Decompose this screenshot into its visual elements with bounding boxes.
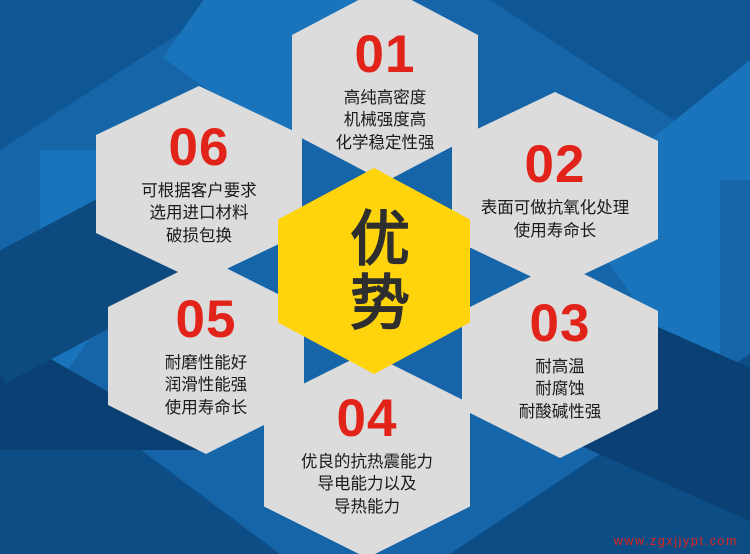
- hexagon-text: 表面可做抗氧化处理 使用寿命长: [481, 197, 630, 242]
- hexagon-item-01: 01 高纯高密度 机械强度高 化学稳定性强: [292, 0, 478, 182]
- hexagon-number: 06: [169, 121, 230, 174]
- hexagon-number: 04: [337, 392, 398, 445]
- hexagon-number: 02: [525, 138, 586, 191]
- hexagon-text: 耐磨性能好 润滑性能强 使用寿命长: [165, 352, 248, 419]
- watermark-text: www.zgxjjypt.com: [614, 534, 738, 548]
- center-label: 优势: [340, 207, 409, 335]
- hexagon-number: 03: [530, 297, 591, 350]
- hexagon-text: 耐高温 耐腐蚀 耐酸碱性强: [519, 356, 602, 423]
- hexagon-item-06: 06 可根据客户要求 选用进口材料 破损包换: [96, 86, 302, 282]
- hexagon-item-03: 03 耐高温 耐腐蚀 耐酸碱性强: [462, 262, 658, 458]
- hexagon-number: 05: [176, 293, 237, 346]
- hexagon-text: 高纯高密度 机械强度高 化学稳定性强: [336, 87, 435, 154]
- infographic-canvas: 01 高纯高密度 机械强度高 化学稳定性强 02 表面可做抗氧化处理 使用寿命长…: [0, 0, 750, 554]
- hexagon-item-02: 02 表面可做抗氧化处理 使用寿命长: [452, 92, 658, 288]
- hexagon-number: 01: [355, 28, 416, 81]
- center-hexagon: 优势: [278, 168, 470, 374]
- hexagon-text: 可根据客户要求 选用进口材料 破损包换: [141, 180, 257, 247]
- hexagon-text: 优良的抗热震能力 导电能力以及 导热能力: [301, 451, 433, 518]
